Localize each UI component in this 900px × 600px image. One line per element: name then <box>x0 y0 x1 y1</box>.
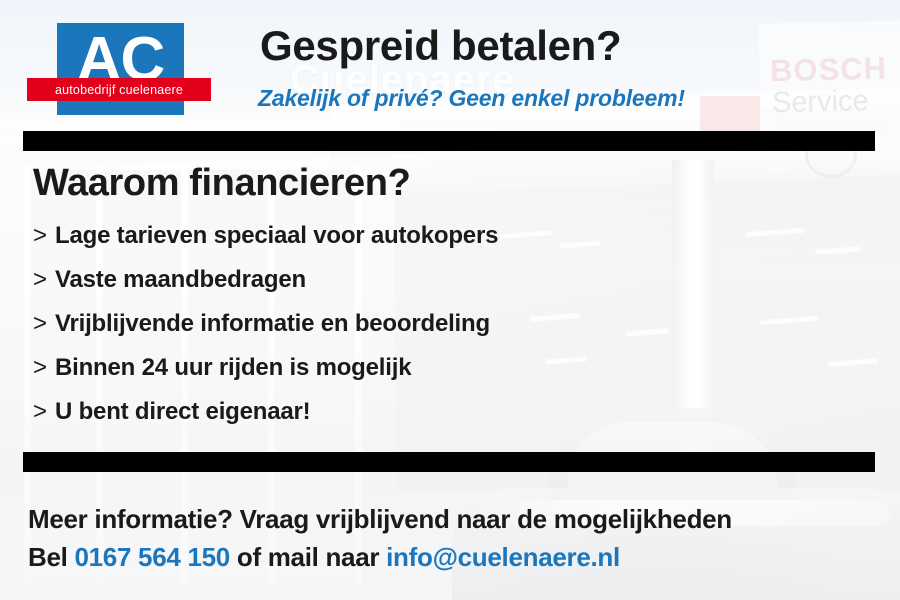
bullet-marker-icon: > <box>33 398 55 426</box>
subheadline: Zakelijk of privé? Geen enkel probleem! <box>258 84 685 112</box>
list-item-label: Vaste maandbedragen <box>55 266 306 294</box>
list-item: > Lage tarieven speciaal voor autokopers <box>33 222 733 266</box>
bullet-marker-icon: > <box>33 354 55 382</box>
logo-tagline: autobedrijf cuelenaere <box>55 83 183 97</box>
finance-promo-banner: BOSCH Service Cuelenaere AC autobedrijf … <box>0 0 900 600</box>
bullet-marker-icon: > <box>33 310 55 338</box>
benefits-list: > Lage tarieven speciaal voor autokopers… <box>33 222 733 442</box>
section-title: Waarom financieren? <box>33 160 410 206</box>
footer-call-prefix: Bel <box>28 542 74 572</box>
footer-mail-middle: of mail naar <box>230 542 386 572</box>
phone-number[interactable]: 0167 564 150 <box>74 542 229 572</box>
list-item-label: Vrijblijvende informatie en beoordeling <box>55 310 490 338</box>
list-item-label: Binnen 24 uur rijden is mogelijk <box>55 354 411 382</box>
divider-bottom <box>23 452 875 472</box>
banner-content: AC autobedrijf cuelenaere Gespreid betal… <box>0 0 900 600</box>
list-item: > U bent direct eigenaar! <box>33 398 733 442</box>
footer-invitation: Meer informatie? Vraag vrijblijvend naar… <box>28 503 732 535</box>
list-item: > Binnen 24 uur rijden is mogelijk <box>33 354 733 398</box>
divider-top <box>23 131 875 151</box>
list-item-label: U bent direct eigenaar! <box>55 398 310 426</box>
bullet-marker-icon: > <box>33 222 55 250</box>
email-address[interactable]: info@cuelenaere.nl <box>386 542 620 572</box>
list-item: > Vaste maandbedragen <box>33 266 733 310</box>
headline: Gespreid betalen? <box>260 22 621 70</box>
logo-blue-box: AC <box>57 23 184 115</box>
footer-contact: Bel 0167 564 150 of mail naar info@cuele… <box>28 541 620 573</box>
list-item: > Vrijblijvende informatie en beoordelin… <box>33 310 733 354</box>
list-item-label: Lage tarieven speciaal voor autokopers <box>55 222 498 250</box>
logo-red-band: autobedrijf cuelenaere <box>27 78 211 101</box>
bullet-marker-icon: > <box>33 266 55 294</box>
